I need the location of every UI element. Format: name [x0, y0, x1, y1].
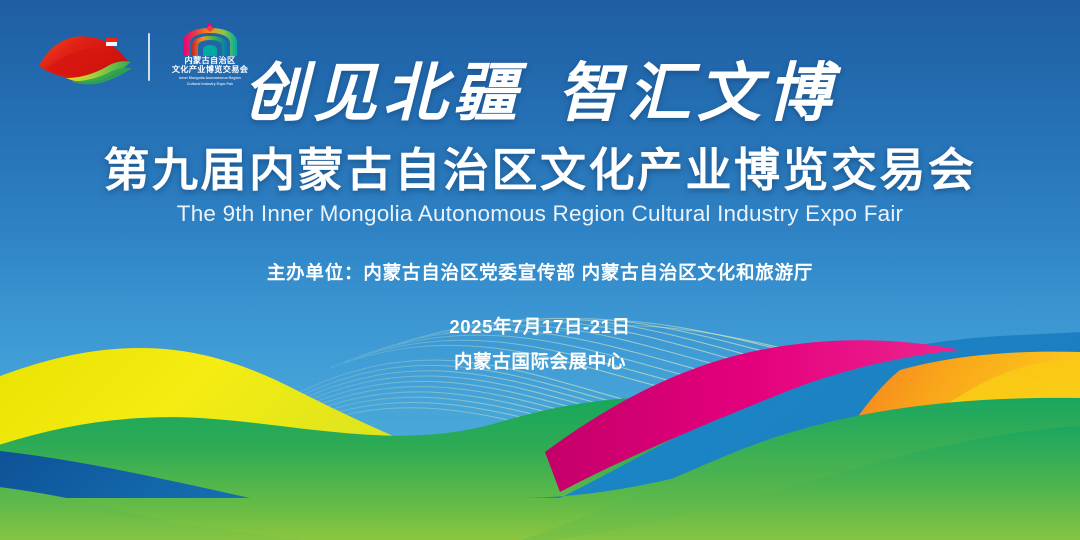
event-date: 2025年7月17日-21日	[0, 318, 1080, 337]
slogan-calligraphy: 创见北疆智汇文博	[0, 62, 1080, 126]
title-chinese: 第九届内蒙古自治区文化产业博览交易会	[0, 147, 1080, 193]
slogan-part1: 创见北疆	[243, 56, 523, 131]
title-english: The 9th Inner Mongolia Autonomous Region…	[0, 203, 1080, 226]
expo-poster: 内蒙古自治区 文化产业博览交易会 Inner Mongolia Autonomo…	[0, 0, 1080, 540]
expo-arch-logo-icon	[177, 24, 243, 56]
organizer-line: 主办单位：内蒙古自治区党委宣传部 内蒙古自治区文化和旅游厅	[0, 264, 1080, 283]
slogan-part2: 智汇文博	[557, 56, 837, 131]
event-venue: 内蒙古国际会展中心	[0, 353, 1080, 372]
